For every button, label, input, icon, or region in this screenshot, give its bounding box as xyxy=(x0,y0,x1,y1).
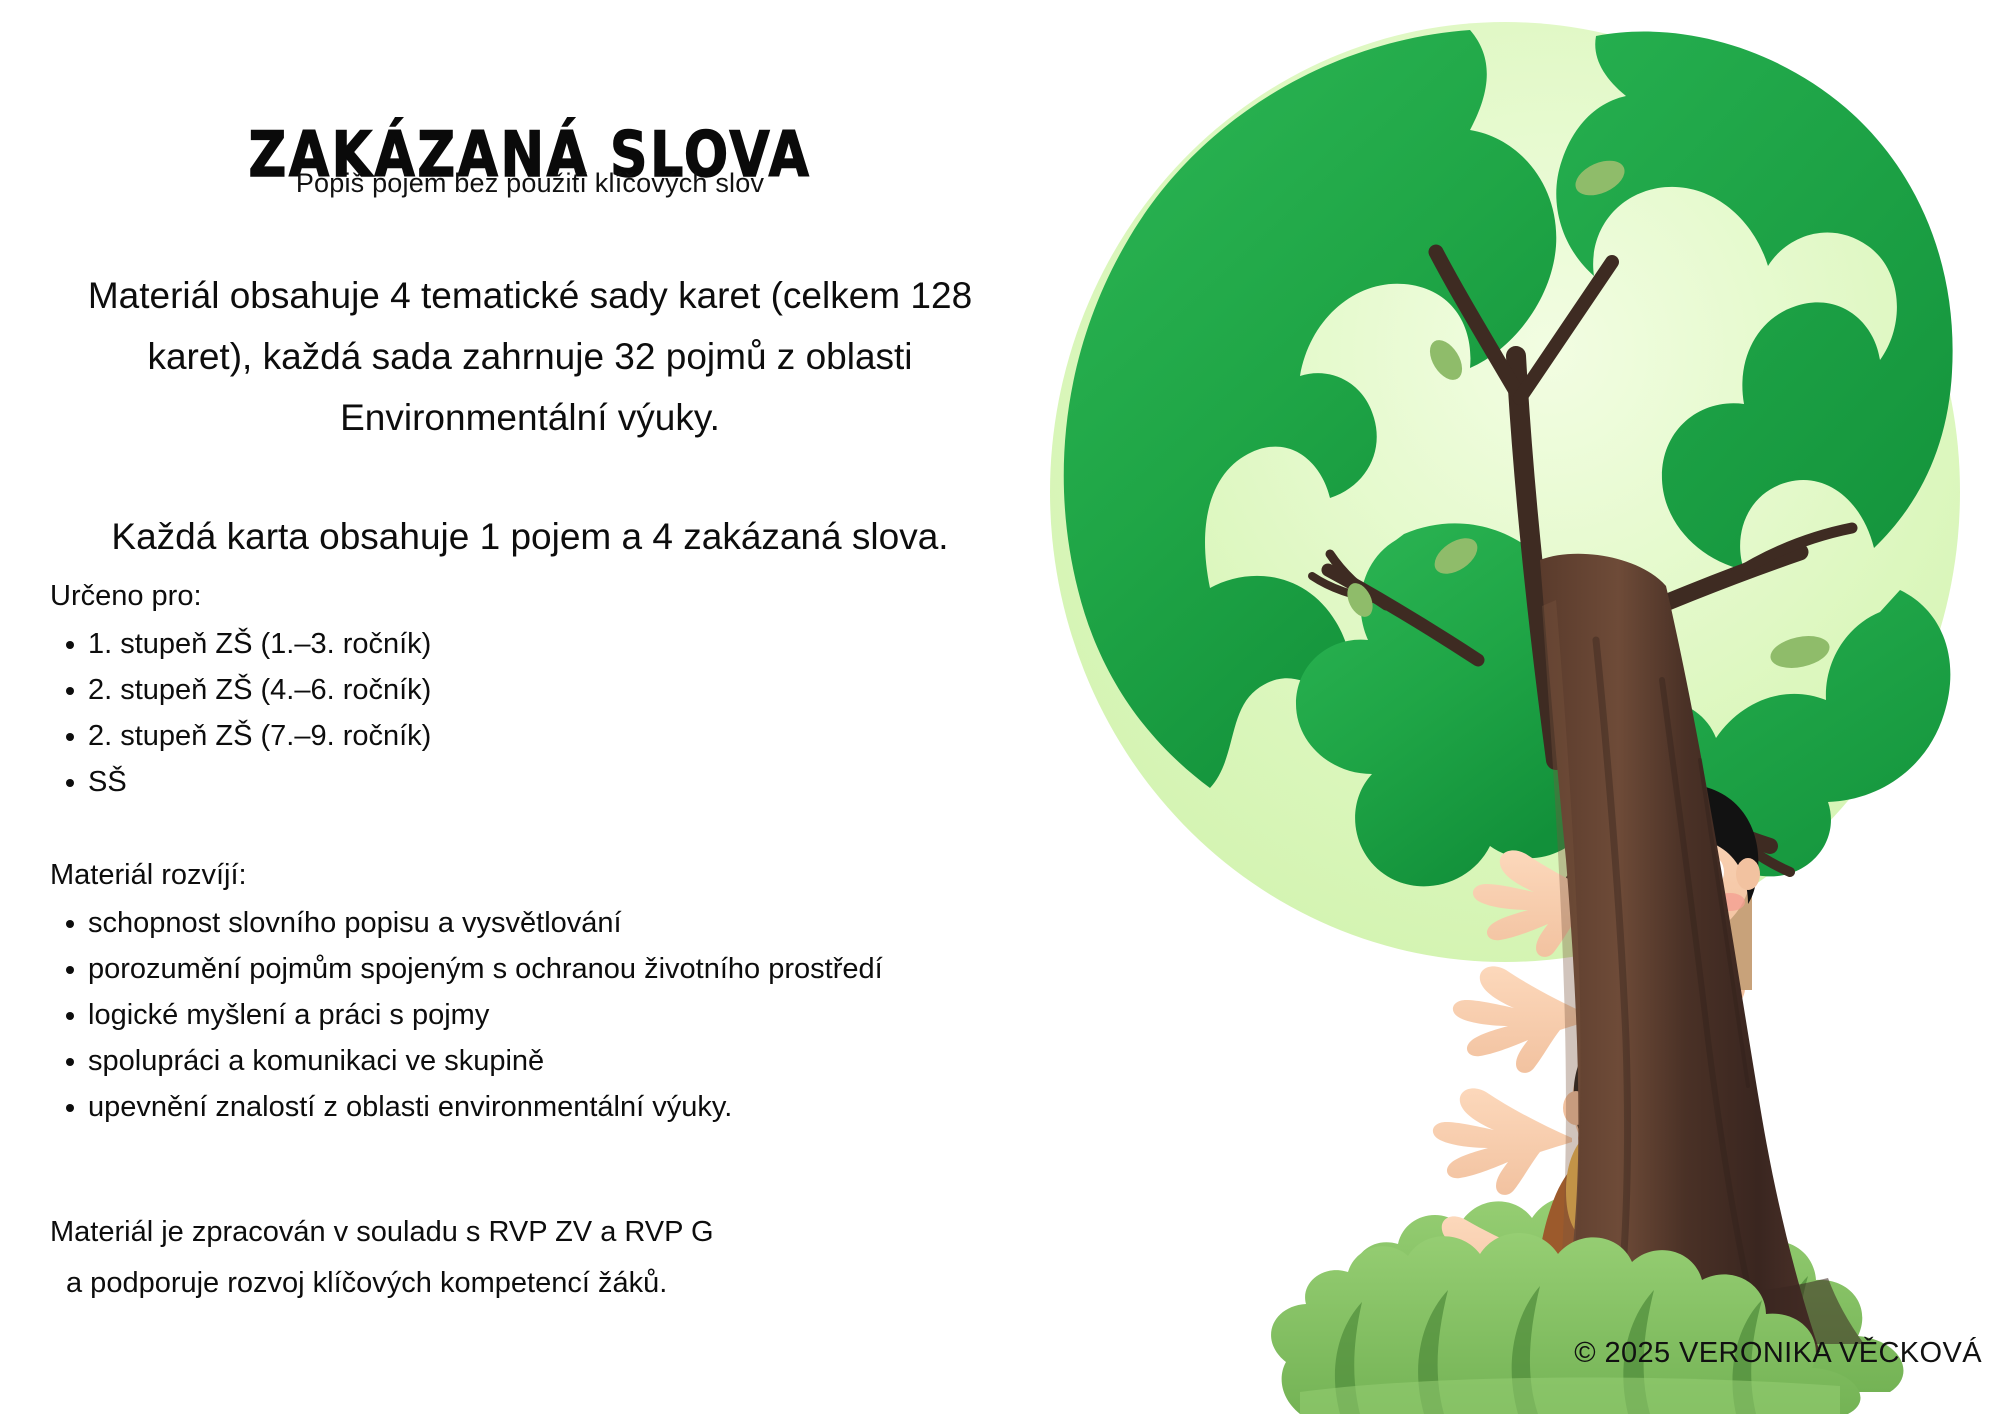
text-column: ZAKÁZANÁ SLOVA Popiš pojem bez použití k… xyxy=(0,0,1060,1414)
list-item: upevnění znalostí z oblasti environmentá… xyxy=(50,1084,883,1130)
list-item: porozumění pojmům spojeným s ochranou ži… xyxy=(50,946,883,992)
intro-paragraph: Materiál obsahuje 4 tematické sady karet… xyxy=(40,265,1020,448)
list-item: spolupráci a komunikaci ve skupině xyxy=(50,1038,883,1084)
tree-with-children-illustration: © 2025 VERONIKA VĚCKOVÁ xyxy=(1000,0,2000,1414)
audience-section: Určeno pro: 1. stupeň ZŠ (1.–3. ročník) … xyxy=(50,577,431,805)
ear-right xyxy=(1736,858,1760,890)
audience-heading: Určeno pro: xyxy=(50,577,431,615)
list-item: SŠ xyxy=(50,759,431,805)
skills-list: schopnost slovního popisu a vysvětlování… xyxy=(50,900,883,1130)
audience-list: 1. stupeň ZŠ (1.–3. ročník) 2. stupeň ZŠ… xyxy=(50,621,431,805)
closing-line-1: Materiál je zpracován v souladu s RVP ZV… xyxy=(50,1216,714,1248)
list-item: 2. stupeň ZŠ (7.–9. ročník) xyxy=(50,713,431,759)
skills-heading: Materiál rozvíjí: xyxy=(50,856,883,894)
highlight-line: Každá karta obsahuje 1 pojem a 4 zakázan… xyxy=(40,510,1020,564)
page-subtitle: Popiš pojem bez použití klíčových slov xyxy=(0,168,1060,199)
copyright-notice: © 2025 VERONIKA VĚCKOVÁ xyxy=(1574,1337,1982,1370)
tree-canopy xyxy=(1050,22,1960,962)
list-item: logické myšlení a práci s pojmy xyxy=(50,992,883,1038)
waving-arm xyxy=(1433,1088,1572,1195)
list-item: 2. stupeň ZŠ (4.–6. ročník) xyxy=(50,667,431,713)
list-item: schopnost slovního popisu a vysvětlování xyxy=(50,900,883,946)
closing-line-2: a podporuje rozvoj klíčových kompetencí … xyxy=(50,1258,950,1309)
skills-section: Materiál rozvíjí: schopnost slovního pop… xyxy=(50,856,883,1130)
closing-paragraph: Materiál je zpracován v souladu s RVP ZV… xyxy=(50,1207,950,1309)
list-item: 1. stupeň ZŠ (1.–3. ročník) xyxy=(50,621,431,667)
